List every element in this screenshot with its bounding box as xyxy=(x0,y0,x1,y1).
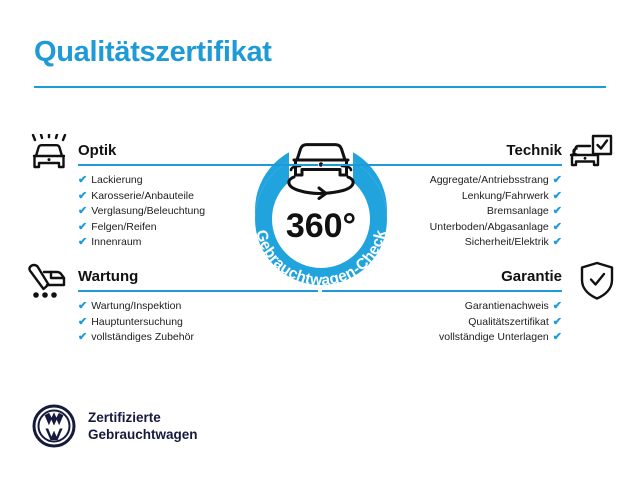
list-item-label: vollständige Unterlagen xyxy=(439,331,549,343)
list-item-label: Karosserie/Anbauteile xyxy=(91,190,194,202)
list-item: Sicherheit/Elektrik✔ xyxy=(322,235,562,251)
check-icon: ✔ xyxy=(553,221,562,233)
check-icon: ✔ xyxy=(78,190,87,202)
list-item-label: vollständiges Zubehör xyxy=(91,331,194,343)
section-garantie-list: Garantienachweis✔ Qualitätszertifikat✔ v… xyxy=(322,299,562,346)
section-technik: Technik Aggregate/Antriebsstrang✔ Lenkun… xyxy=(322,142,562,251)
list-item: Unterboden/Abgasanlage✔ xyxy=(322,220,562,236)
list-item: ✔Verglasung/Beleuchtung xyxy=(78,204,318,220)
list-item-label: Wartung/Inspektion xyxy=(91,300,181,312)
list-item-label: Sicherheit/Elektrik xyxy=(465,236,549,248)
brand-line-2: Gebrauchtwagen xyxy=(88,426,198,443)
list-item-label: Qualitätszertifikat xyxy=(468,316,549,328)
footer-brand: Zertifizierte Gebrauchtwagen xyxy=(32,404,198,448)
check-icon: ✔ xyxy=(553,236,562,248)
list-item: Qualitätszertifikat✔ xyxy=(322,315,562,331)
brand-wordmark: Zertifizierte Gebrauchtwagen xyxy=(88,409,198,443)
list-item-label: Lackierung xyxy=(91,174,142,186)
check-icon: ✔ xyxy=(78,221,87,233)
check-icon: ✔ xyxy=(78,205,87,217)
section-wartung-heading: Wartung xyxy=(78,268,318,286)
section-technik-divider xyxy=(322,164,562,166)
section-technik-heading: Technik xyxy=(322,142,562,160)
list-item: ✔Wartung/Inspektion xyxy=(78,299,318,315)
list-item: Aggregate/Antriebsstrang✔ xyxy=(322,173,562,189)
page-title: Qualitätszertifikat xyxy=(34,36,272,69)
list-item: ✔Hauptuntersuchung xyxy=(78,315,318,331)
shield-check-icon xyxy=(574,260,620,302)
list-item: Lenkung/Fahrwerk✔ xyxy=(322,189,562,205)
check-icon: ✔ xyxy=(553,300,562,312)
car-shine-icon xyxy=(26,134,72,176)
list-item: Garantienachweis✔ xyxy=(322,299,562,315)
section-wartung-list: ✔Wartung/Inspektion ✔Hauptuntersuchung ✔… xyxy=(78,299,318,346)
list-item-label: Lenkung/Fahrwerk xyxy=(462,190,549,202)
wrench-car-icon xyxy=(24,260,70,302)
section-garantie-heading: Garantie xyxy=(322,268,562,286)
section-optik-list: ✔Lackierung ✔Karosserie/Anbauteile ✔Verg… xyxy=(78,173,318,251)
section-optik-divider xyxy=(78,164,318,166)
section-garantie-divider xyxy=(322,290,562,292)
list-item-label: Aggregate/Antriebsstrang xyxy=(430,174,549,186)
list-item-label: Bremsanlage xyxy=(487,205,549,217)
car-checkbox-icon xyxy=(568,134,614,176)
list-item: ✔Karosserie/Anbauteile xyxy=(78,189,318,205)
check-icon: ✔ xyxy=(553,316,562,328)
list-item-label: Verglasung/Beleuchtung xyxy=(91,205,205,217)
section-wartung-divider xyxy=(78,290,318,292)
list-item: ✔Felgen/Reifen xyxy=(78,220,318,236)
section-technik-list: Aggregate/Antriebsstrang✔ Lenkung/Fahrwe… xyxy=(322,173,562,251)
check-icon: ✔ xyxy=(553,190,562,202)
title-divider xyxy=(34,86,606,88)
list-item: vollständige Unterlagen✔ xyxy=(322,330,562,346)
list-item-label: Unterboden/Abgasanlage xyxy=(430,221,549,233)
list-item-label: Garantienachweis xyxy=(465,300,549,312)
list-item-label: Innenraum xyxy=(91,236,141,248)
section-optik: Optik ✔Lackierung ✔Karosserie/Anbauteile… xyxy=(78,142,318,251)
list-item-label: Hauptuntersuchung xyxy=(91,316,183,328)
list-item: ✔Lackierung xyxy=(78,173,318,189)
list-item: Bremsanlage✔ xyxy=(322,204,562,220)
section-garantie: Garantie Garantienachweis✔ Qualitätszert… xyxy=(322,268,562,346)
list-item-label: Felgen/Reifen xyxy=(91,221,156,233)
brand-line-1: Zertifizierte xyxy=(88,409,198,426)
check-icon: ✔ xyxy=(553,331,562,343)
section-wartung: Wartung ✔Wartung/Inspektion ✔Hauptunters… xyxy=(78,268,318,346)
list-item: ✔Innenraum xyxy=(78,235,318,251)
list-item: ✔vollständiges Zubehör xyxy=(78,330,318,346)
check-icon: ✔ xyxy=(78,331,87,343)
vw-logo-icon xyxy=(32,404,76,448)
check-icon: ✔ xyxy=(78,316,87,328)
quality-certificate-page: Qualitätszertifikat xyxy=(0,0,640,480)
check-icon: ✔ xyxy=(553,205,562,217)
section-optik-heading: Optik xyxy=(78,142,318,160)
check-icon: ✔ xyxy=(553,174,562,186)
check-icon: ✔ xyxy=(78,174,87,186)
check-icon: ✔ xyxy=(78,236,87,248)
check-icon: ✔ xyxy=(78,300,87,312)
